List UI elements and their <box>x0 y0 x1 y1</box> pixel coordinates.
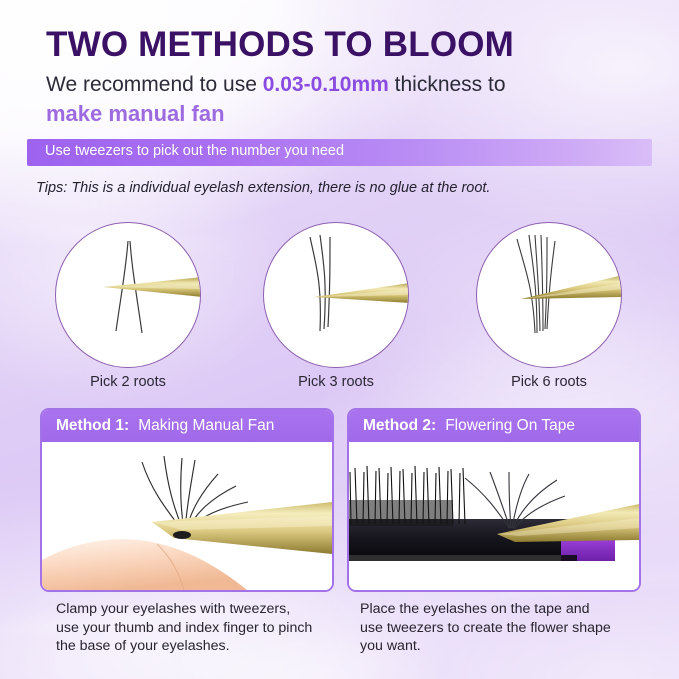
tweezer-lash-2-icon <box>56 223 201 368</box>
method-1-header: Method 1: Making Manual Fan <box>42 410 332 442</box>
method-1-number: Method 1: <box>56 417 129 435</box>
step-illustration-circle <box>55 222 201 368</box>
tweezer-lash-6-icon <box>477 223 622 368</box>
method-2-title: Flowering On Tape <box>445 417 575 435</box>
method-panel-2: Method 2: Flowering On Tape <box>347 408 641 592</box>
finger-tweezer-fan-photo <box>42 442 332 590</box>
instruction-banner-label: Use tweezers to pick out the number you … <box>45 143 344 159</box>
step-label: Pick 6 roots <box>476 374 622 390</box>
recommendation-prefix: We recommend to use <box>46 73 263 96</box>
method-1-photo <box>42 442 332 590</box>
tweezer-lash-3-icon <box>264 223 409 368</box>
lash-strip-on-tape-photo <box>349 442 639 590</box>
step-label: Pick 3 roots <box>263 374 409 390</box>
step-illustration-circle <box>476 222 622 368</box>
step-item: Pick 2 roots <box>55 222 201 368</box>
method-2-caption: Place the eyelashes on the tape and use … <box>360 600 611 656</box>
thickness-value: 0.03-0.10mm <box>263 73 389 96</box>
step-label: Pick 2 roots <box>55 374 201 390</box>
instruction-banner: Use tweezers to pick out the number you … <box>27 139 652 166</box>
method-1-caption: Clamp your eyelashes with tweezers, use … <box>56 600 312 656</box>
step-item: Pick 6 roots <box>476 222 622 368</box>
step-illustration-circle <box>263 222 409 368</box>
page-title: TWO METHODS TO BLOOM <box>46 25 514 65</box>
tips-text: Tips: This is a individual eyelash exten… <box>36 180 490 196</box>
step-item: Pick 3 roots <box>263 222 409 368</box>
infographic-page: TWO METHODS TO BLOOM We recommend to use… <box>0 0 679 679</box>
recommendation-line2: make manual fan <box>46 101 225 127</box>
method-panel-1: Method 1: Making Manual Fan <box>40 408 334 592</box>
methods-row: Method 1: Making Manual Fan <box>0 408 679 594</box>
recommendation-line: We recommend to use 0.03-0.10mm thicknes… <box>46 72 506 98</box>
recommendation-suffix: thickness to <box>389 73 506 96</box>
method-2-header: Method 2: Flowering On Tape <box>349 410 639 442</box>
method-2-photo <box>349 442 639 590</box>
method-2-number: Method 2: <box>363 417 436 435</box>
method-1-title: Making Manual Fan <box>138 417 274 435</box>
steps-row: Pick 2 roots <box>0 222 679 392</box>
